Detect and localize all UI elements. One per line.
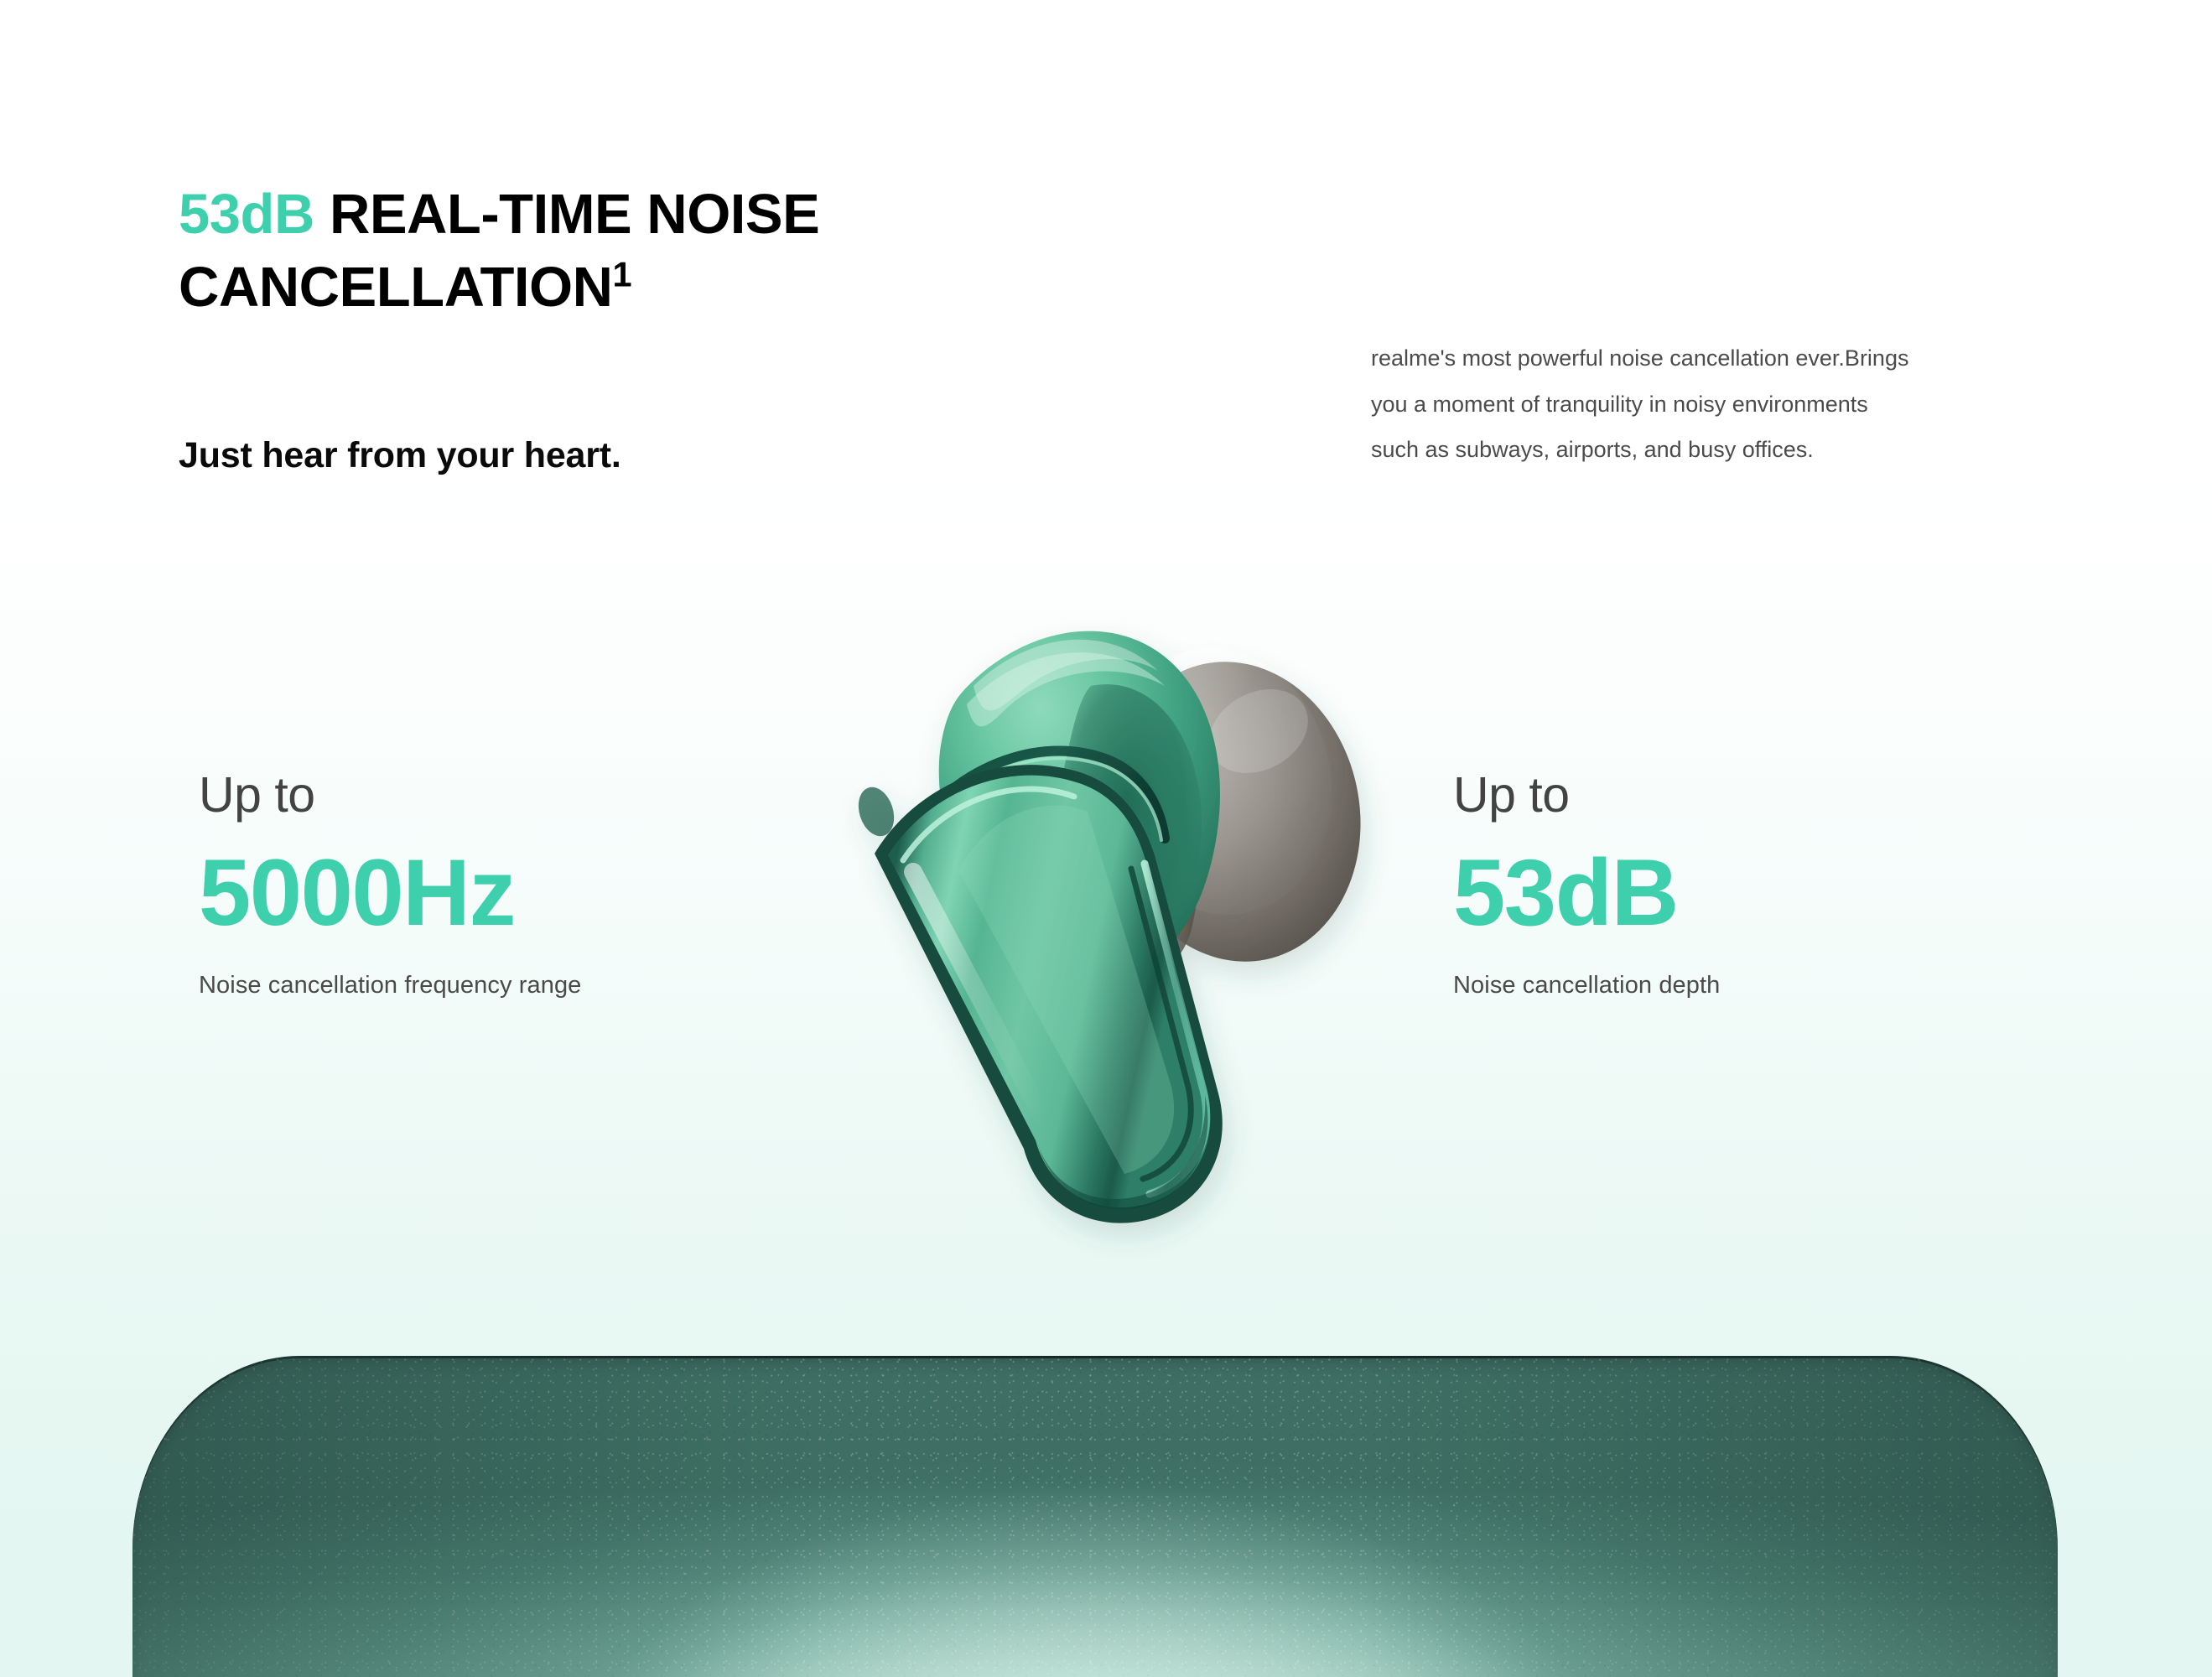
earbud-product-image — [826, 587, 1413, 1266]
intro-description: realme's most powerful noise cancellatio… — [1371, 335, 2100, 473]
page-title-line-1: 53dB REAL-TIME NOISE — [179, 178, 1168, 251]
stat-caption: Noise cancellation depth — [1453, 972, 2208, 999]
title-footnote-superscript: 1 — [613, 255, 632, 294]
intro-line-1: realme's most powerful noise cancellatio… — [1371, 335, 2100, 382]
headline-block: 53dB REAL-TIME NOISE CANCELLATION1 — [179, 178, 1168, 324]
page-title-line-2: CANCELLATION1 — [179, 251, 1168, 324]
product-feature-page: 53dB REAL-TIME NOISE CANCELLATION1 Just … — [0, 0, 2212, 1677]
case-metallic-texture — [132, 1356, 2058, 1677]
stat-value: 53dB — [1453, 838, 2208, 948]
stat-cancellation-depth: Up to 53dB Noise cancellation depth — [1453, 767, 2208, 999]
title-line2-text: CANCELLATION — [179, 256, 613, 319]
title-accent-value: 53dB — [179, 183, 314, 246]
stat-label: Up to — [1453, 767, 2208, 823]
title-rest: REAL-TIME NOISE — [314, 183, 819, 246]
intro-line-2: you a moment of tranquility in noisy env… — [1371, 382, 2100, 428]
page-subtitle: Just hear from your heart. — [179, 435, 621, 476]
charging-case-lid-image — [132, 1356, 2058, 1677]
intro-line-3: such as subways, airports, and busy offi… — [1371, 427, 2100, 473]
